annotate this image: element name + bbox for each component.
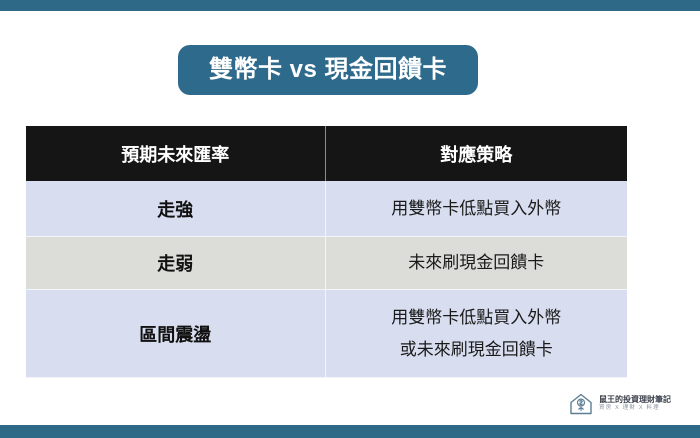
row-key: 區間震盪	[26, 290, 325, 378]
bottom-accent-bar	[0, 425, 700, 438]
table-row: 走弱 未來刷現金回饋卡	[26, 237, 627, 290]
row-key: 走強	[26, 181, 325, 237]
table-row: 走強 用雙幣卡低點買入外幣	[26, 181, 627, 237]
slide-canvas: 雙幣卡 vs 現金回饋卡 預期未來匯率 對應策略 走強 用雙幣卡低點買入外幣 走…	[0, 0, 700, 438]
table-body: 走強 用雙幣卡低點買入外幣 走弱 未來刷現金回饋卡 區間震盪 用雙幣卡低點買入外…	[26, 181, 627, 378]
house-money-icon	[568, 391, 594, 417]
row-key: 走弱	[26, 237, 325, 290]
table-header: 預期未來匯率 對應策略	[26, 126, 627, 181]
row-value-line: 用雙幣卡低點買入外幣	[326, 302, 628, 333]
brand-tagline: 買房 X 理財 X 料理	[599, 406, 671, 412]
row-value: 用雙幣卡低點買入外幣 或未來刷現金回饋卡	[325, 290, 627, 378]
table-row: 區間震盪 用雙幣卡低點買入外幣 或未來刷現金回饋卡	[26, 290, 627, 378]
brand-name: 鼠王的投資理財筆記	[599, 396, 671, 404]
top-accent-bar	[0, 0, 700, 11]
row-value-line: 用雙幣卡低點買入外幣	[326, 193, 628, 224]
row-value-line: 未來刷現金回饋卡	[326, 247, 628, 278]
column-header-expected-rate: 預期未來匯率	[26, 126, 325, 181]
row-value: 未來刷現金回饋卡	[325, 237, 627, 290]
row-value-line: 或未來刷現金回饋卡	[326, 334, 628, 365]
row-value: 用雙幣卡低點買入外幣	[325, 181, 627, 237]
brand-text-block: 鼠王的投資理財筆記 買房 X 理財 X 料理	[599, 396, 671, 412]
page-title: 雙幣卡 vs 現金回饋卡	[209, 58, 447, 82]
table-header-row: 預期未來匯率 對應策略	[26, 126, 627, 181]
comparison-table: 預期未來匯率 對應策略 走強 用雙幣卡低點買入外幣 走弱 未來刷現金回饋卡 區間…	[26, 126, 627, 378]
brand-watermark: 鼠王的投資理財筆記 買房 X 理財 X 料理	[568, 389, 688, 419]
column-header-strategy: 對應策略	[325, 126, 627, 181]
title-banner: 雙幣卡 vs 現金回饋卡	[178, 45, 478, 95]
